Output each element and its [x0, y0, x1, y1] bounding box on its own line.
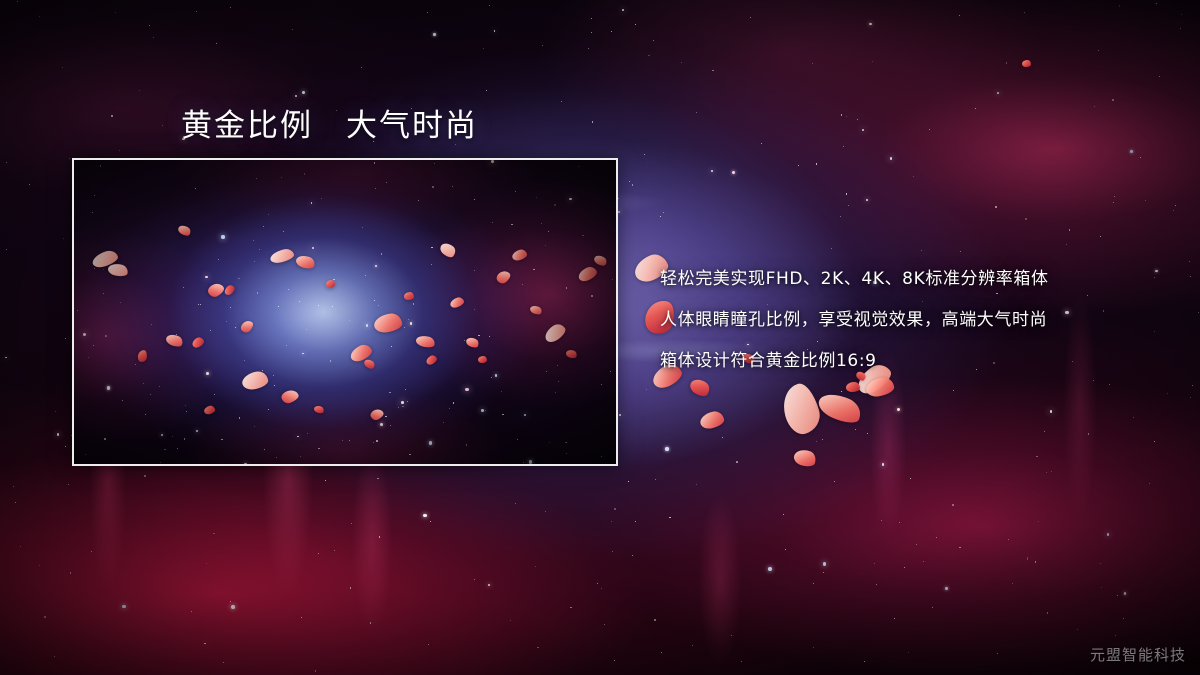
- petal: [778, 380, 824, 437]
- feature-description: 轻松完美实现FHD、2K、4K、8K标准分辨率箱体 人体眼睛瞳孔比例，享受视觉效…: [660, 259, 1160, 382]
- frame-image: [74, 160, 616, 464]
- petal: [815, 388, 865, 428]
- frame-vignette: [74, 160, 616, 464]
- slide-canvas: 黄金比例 大气时尚 轻松完美实现FHD、2K、4K、8K标准分辨率箱体 人体眼睛…: [0, 0, 1200, 675]
- petal: [1022, 60, 1031, 67]
- petal: [846, 382, 860, 392]
- feature-line-1: 轻松完美实现FHD、2K、4K、8K标准分辨率箱体: [660, 259, 1160, 300]
- golden-ratio-image-frame: [72, 158, 618, 466]
- petal: [699, 410, 726, 431]
- feature-line-2: 人体眼睛瞳孔比例，享受视觉效果，高端大气时尚: [660, 300, 1160, 341]
- page-title: 黄金比例 大气时尚: [181, 100, 478, 145]
- feature-line-3: 箱体设计符合黄金比例16:9: [660, 341, 1160, 382]
- watermark: 元盟智能科技: [1090, 644, 1186, 665]
- petal: [792, 447, 818, 469]
